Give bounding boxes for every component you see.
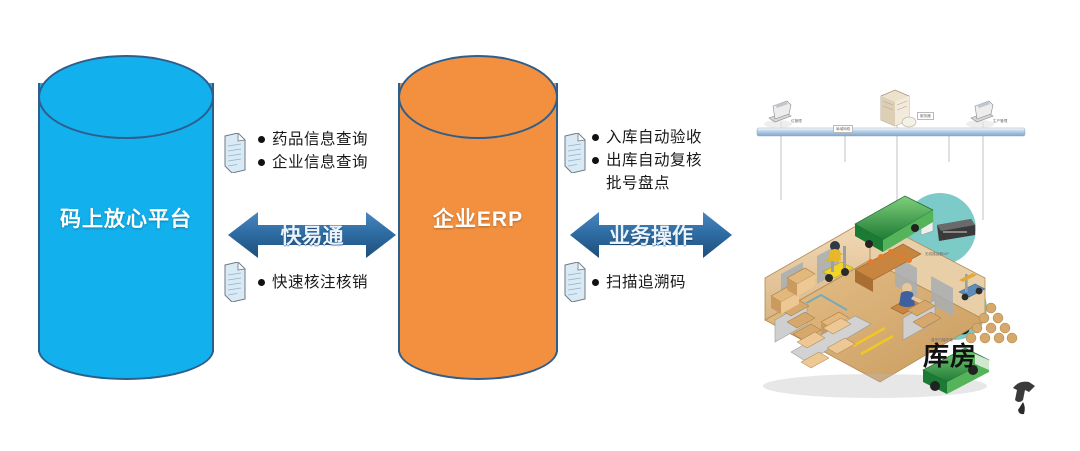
note-text: 药品信息查询 <box>272 128 368 151</box>
note-line: 入库自动验收 <box>592 126 702 149</box>
note-text: 批号盘点 <box>606 172 670 195</box>
right-lower-notes: 扫描追溯码 <box>592 271 686 294</box>
note-text: 快速核注核销 <box>272 271 368 294</box>
connector-label: 快易通 <box>228 220 396 250</box>
connector-kuaiyitong-arrow[interactable]: 快易通 <box>228 206 396 264</box>
workstation-icon <box>764 101 792 128</box>
node-platform-label: 码上放心平台 <box>38 203 214 233</box>
document-sheet-icon <box>224 133 246 173</box>
note-text: 扫描追溯码 <box>606 271 686 294</box>
network-node-label-0: 位管理 <box>791 119 802 124</box>
document-sheet-icon <box>564 133 586 173</box>
server-icon <box>881 90 916 127</box>
note-line: 企业信息查询 <box>258 151 368 174</box>
note-line: 出库自动复核 <box>592 149 702 172</box>
note-text: 企业信息查询 <box>272 151 368 174</box>
left-lower-notes: 快速核注核销 <box>258 271 368 294</box>
document-sheet-icon <box>564 262 586 302</box>
network-node-label-2: 服务器 <box>917 112 934 120</box>
node-erp-cylinder[interactable]: 企业ERP <box>398 55 558 380</box>
warehouse-illustration: 位管理 局域网络 服务器 生产管理 无线路由器/AP 蓝牙扫描终端 库房 <box>735 70 1080 440</box>
bullet-icon <box>258 159 265 166</box>
left-upper-notes: 药品信息查询 企业信息查询 <box>258 128 368 174</box>
bullet-icon <box>258 279 265 286</box>
connector-label: 业务操作 <box>570 220 732 250</box>
node-platform-cylinder[interactable]: 码上放心平台 <box>38 55 214 380</box>
note-line: 快速核注核销 <box>258 271 368 294</box>
bullet-spacer <box>592 180 599 187</box>
note-text: 入库自动验收 <box>606 126 702 149</box>
cylinder-top-ellipse <box>38 55 214 139</box>
bullet-icon <box>592 279 599 286</box>
note-line: 药品信息查询 <box>258 128 368 151</box>
callout-label-router: 无线路由器/AP <box>925 252 949 257</box>
note-line: 扫描追溯码 <box>592 271 686 294</box>
right-upper-notes: 入库自动验收 出库自动复核 批号盘点 <box>592 126 702 195</box>
network-node-label-1: 局域网络 <box>833 125 853 133</box>
note-text: 出库自动复核 <box>606 149 702 172</box>
barcode-scanner-gun-icon <box>1013 382 1035 415</box>
bullet-icon <box>592 134 599 141</box>
bullet-icon <box>258 136 265 143</box>
cylinder-top-ellipse <box>398 55 558 139</box>
bullet-icon <box>592 157 599 164</box>
document-sheet-icon <box>224 262 246 302</box>
note-line: 批号盘点 <box>592 172 702 195</box>
workstation-icon <box>966 101 994 128</box>
connector-yewucaozuo-arrow[interactable]: 业务操作 <box>570 206 732 264</box>
node-erp-label: 企业ERP <box>398 203 558 233</box>
diagram-canvas: 码上放心平台 药品信息查询 <box>0 0 1080 451</box>
network-node-label-3: 生产管理 <box>993 119 1007 124</box>
warehouse-caption: 库房 <box>923 336 977 373</box>
